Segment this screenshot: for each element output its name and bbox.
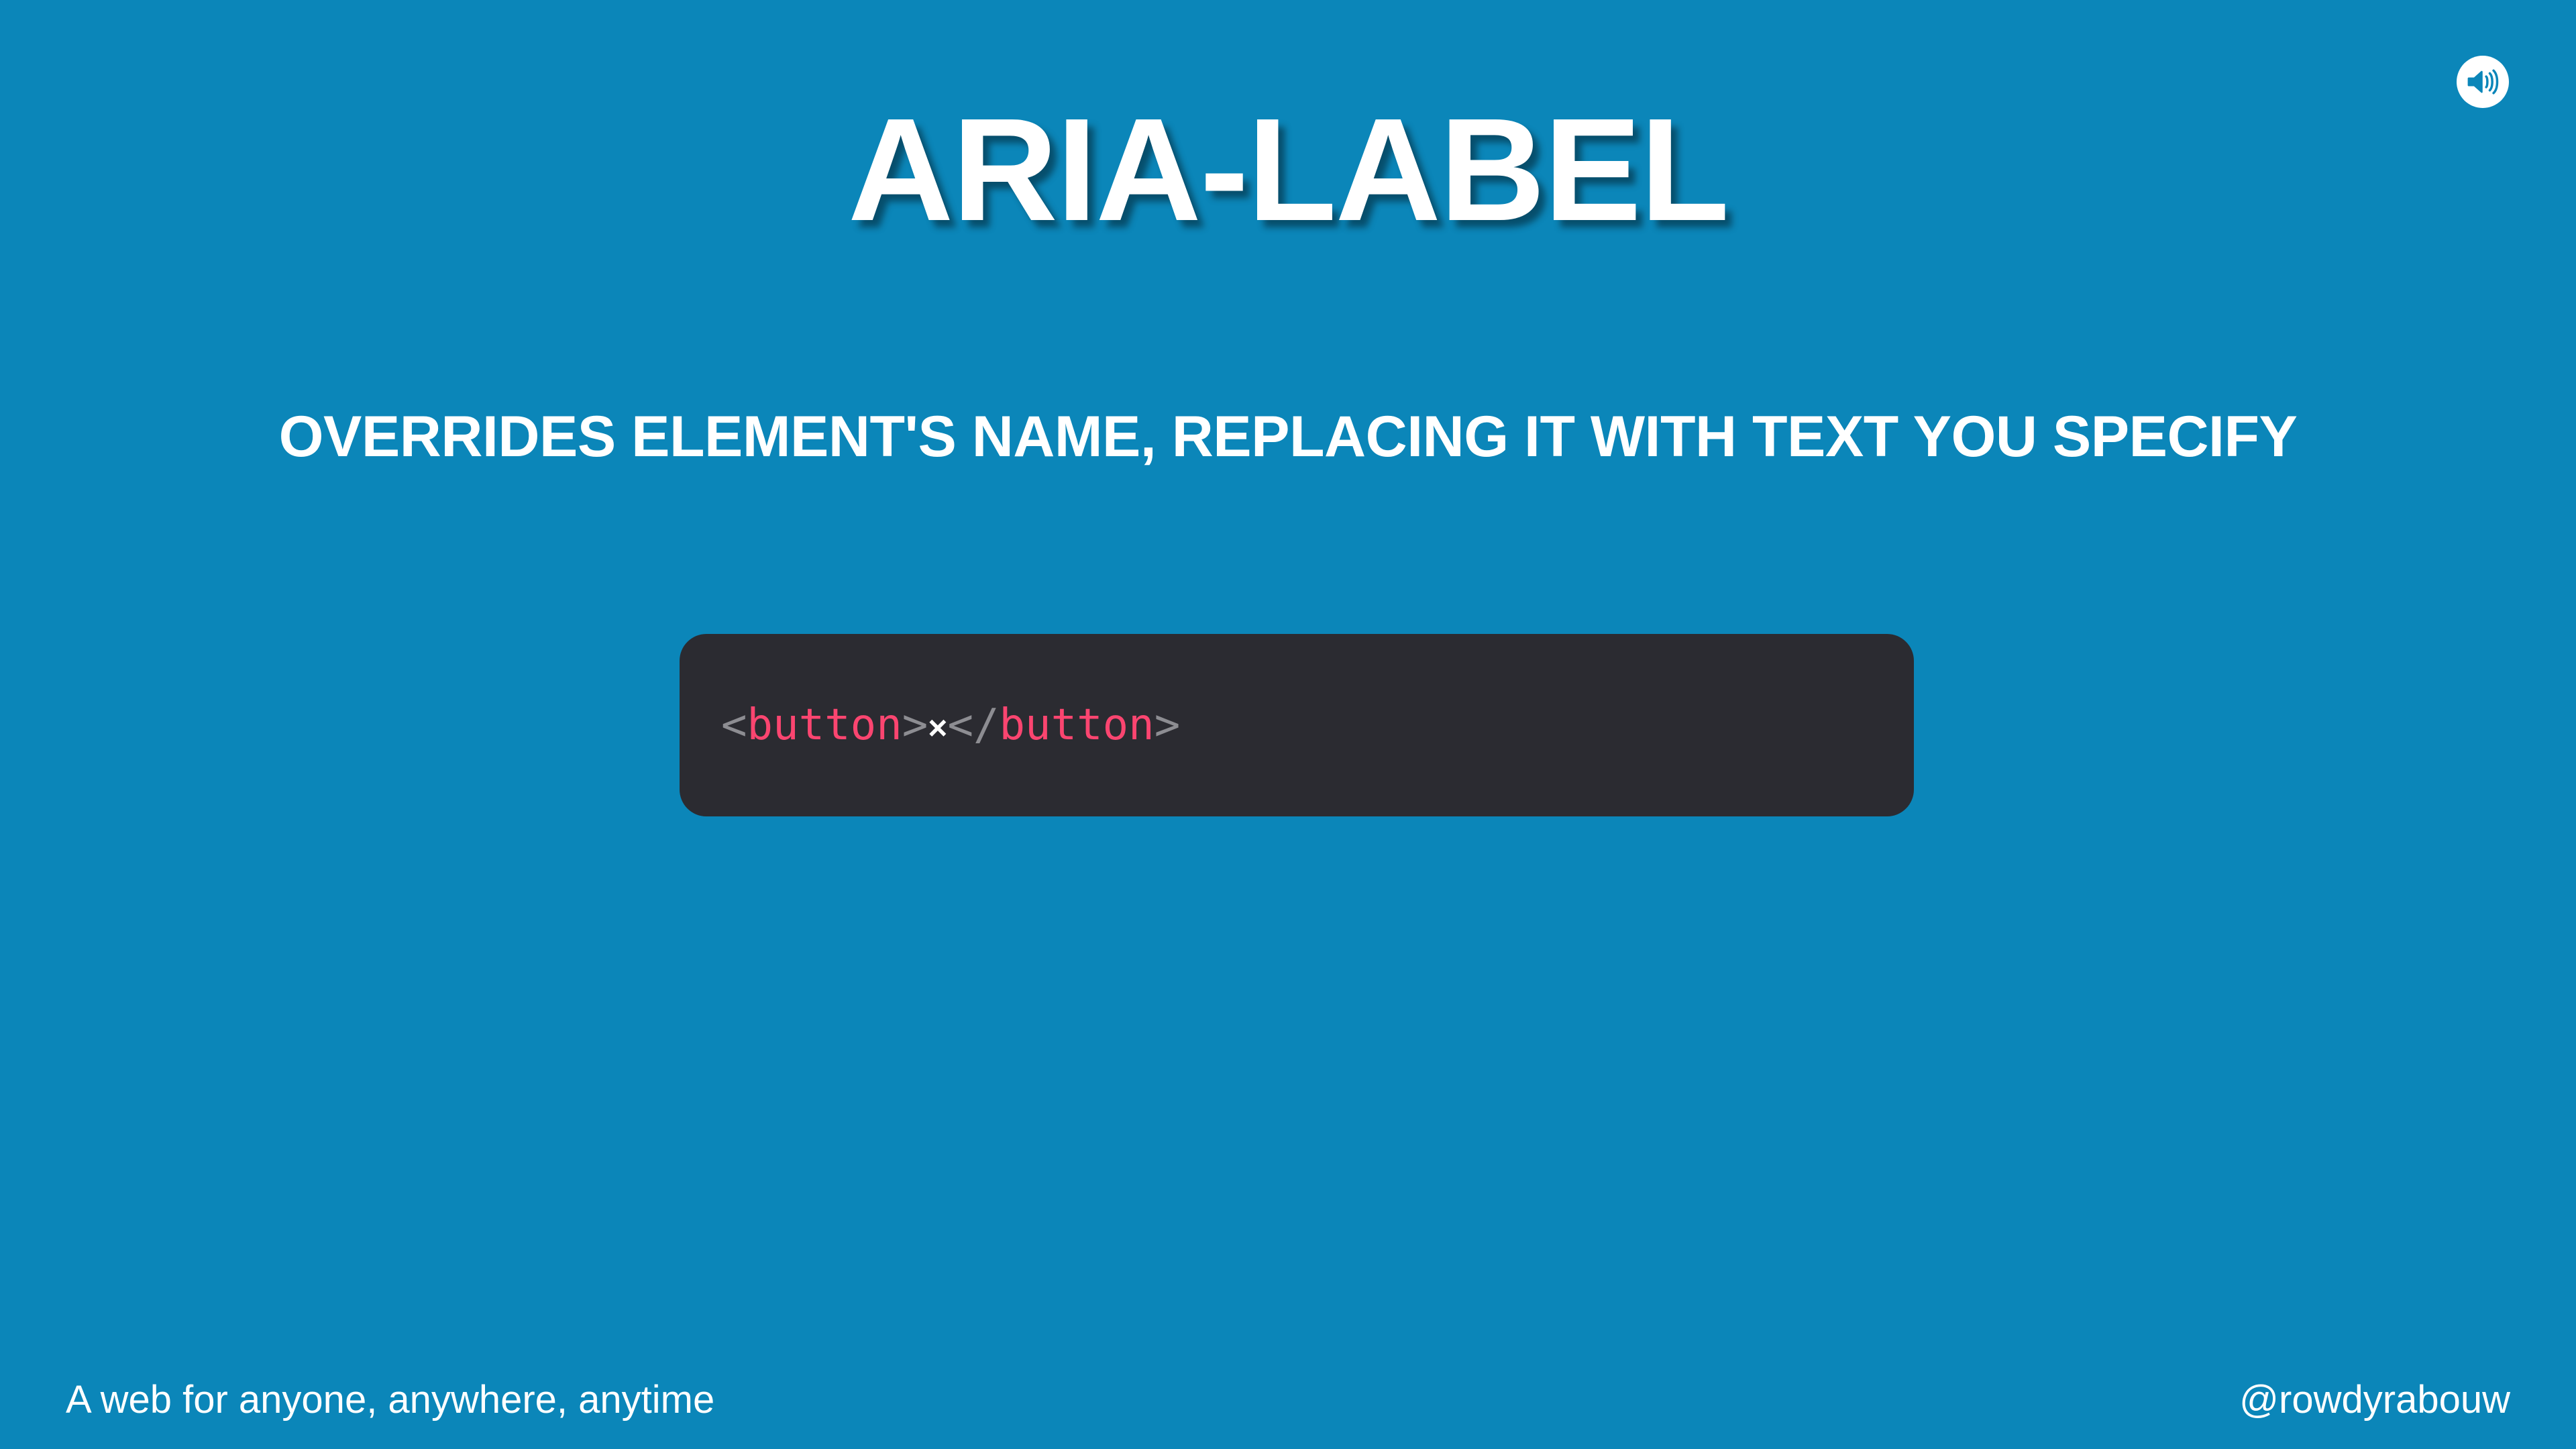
code-line: <button>×</button>	[680, 704, 1180, 747]
code-text-content: ×	[928, 709, 947, 747]
speaker-volume-icon	[2464, 63, 2502, 101]
footer-tagline: A web for anyone, anywhere, anytime	[66, 1381, 714, 1419]
code-open-tag-name: button	[747, 700, 902, 750]
page-title: ARIA-LABEL	[0, 97, 2576, 244]
footer-handle: @rowdyrabouw	[2239, 1381, 2510, 1419]
page-subtitle: OVERRIDES ELEMENT'S NAME, REPLACING IT W…	[0, 408, 2576, 466]
code-close-bracket-close: >	[1155, 700, 1181, 750]
slide-root: ARIA-LABEL OVERRIDES ELEMENT'S NAME, REP…	[0, 0, 2576, 1449]
code-open-bracket-close: >	[902, 700, 928, 750]
code-block: <button>×</button>	[680, 634, 1914, 816]
code-close-bracket: </	[947, 700, 999, 750]
code-open-bracket: <	[721, 700, 747, 750]
code-close-tag-name: button	[1000, 700, 1155, 750]
